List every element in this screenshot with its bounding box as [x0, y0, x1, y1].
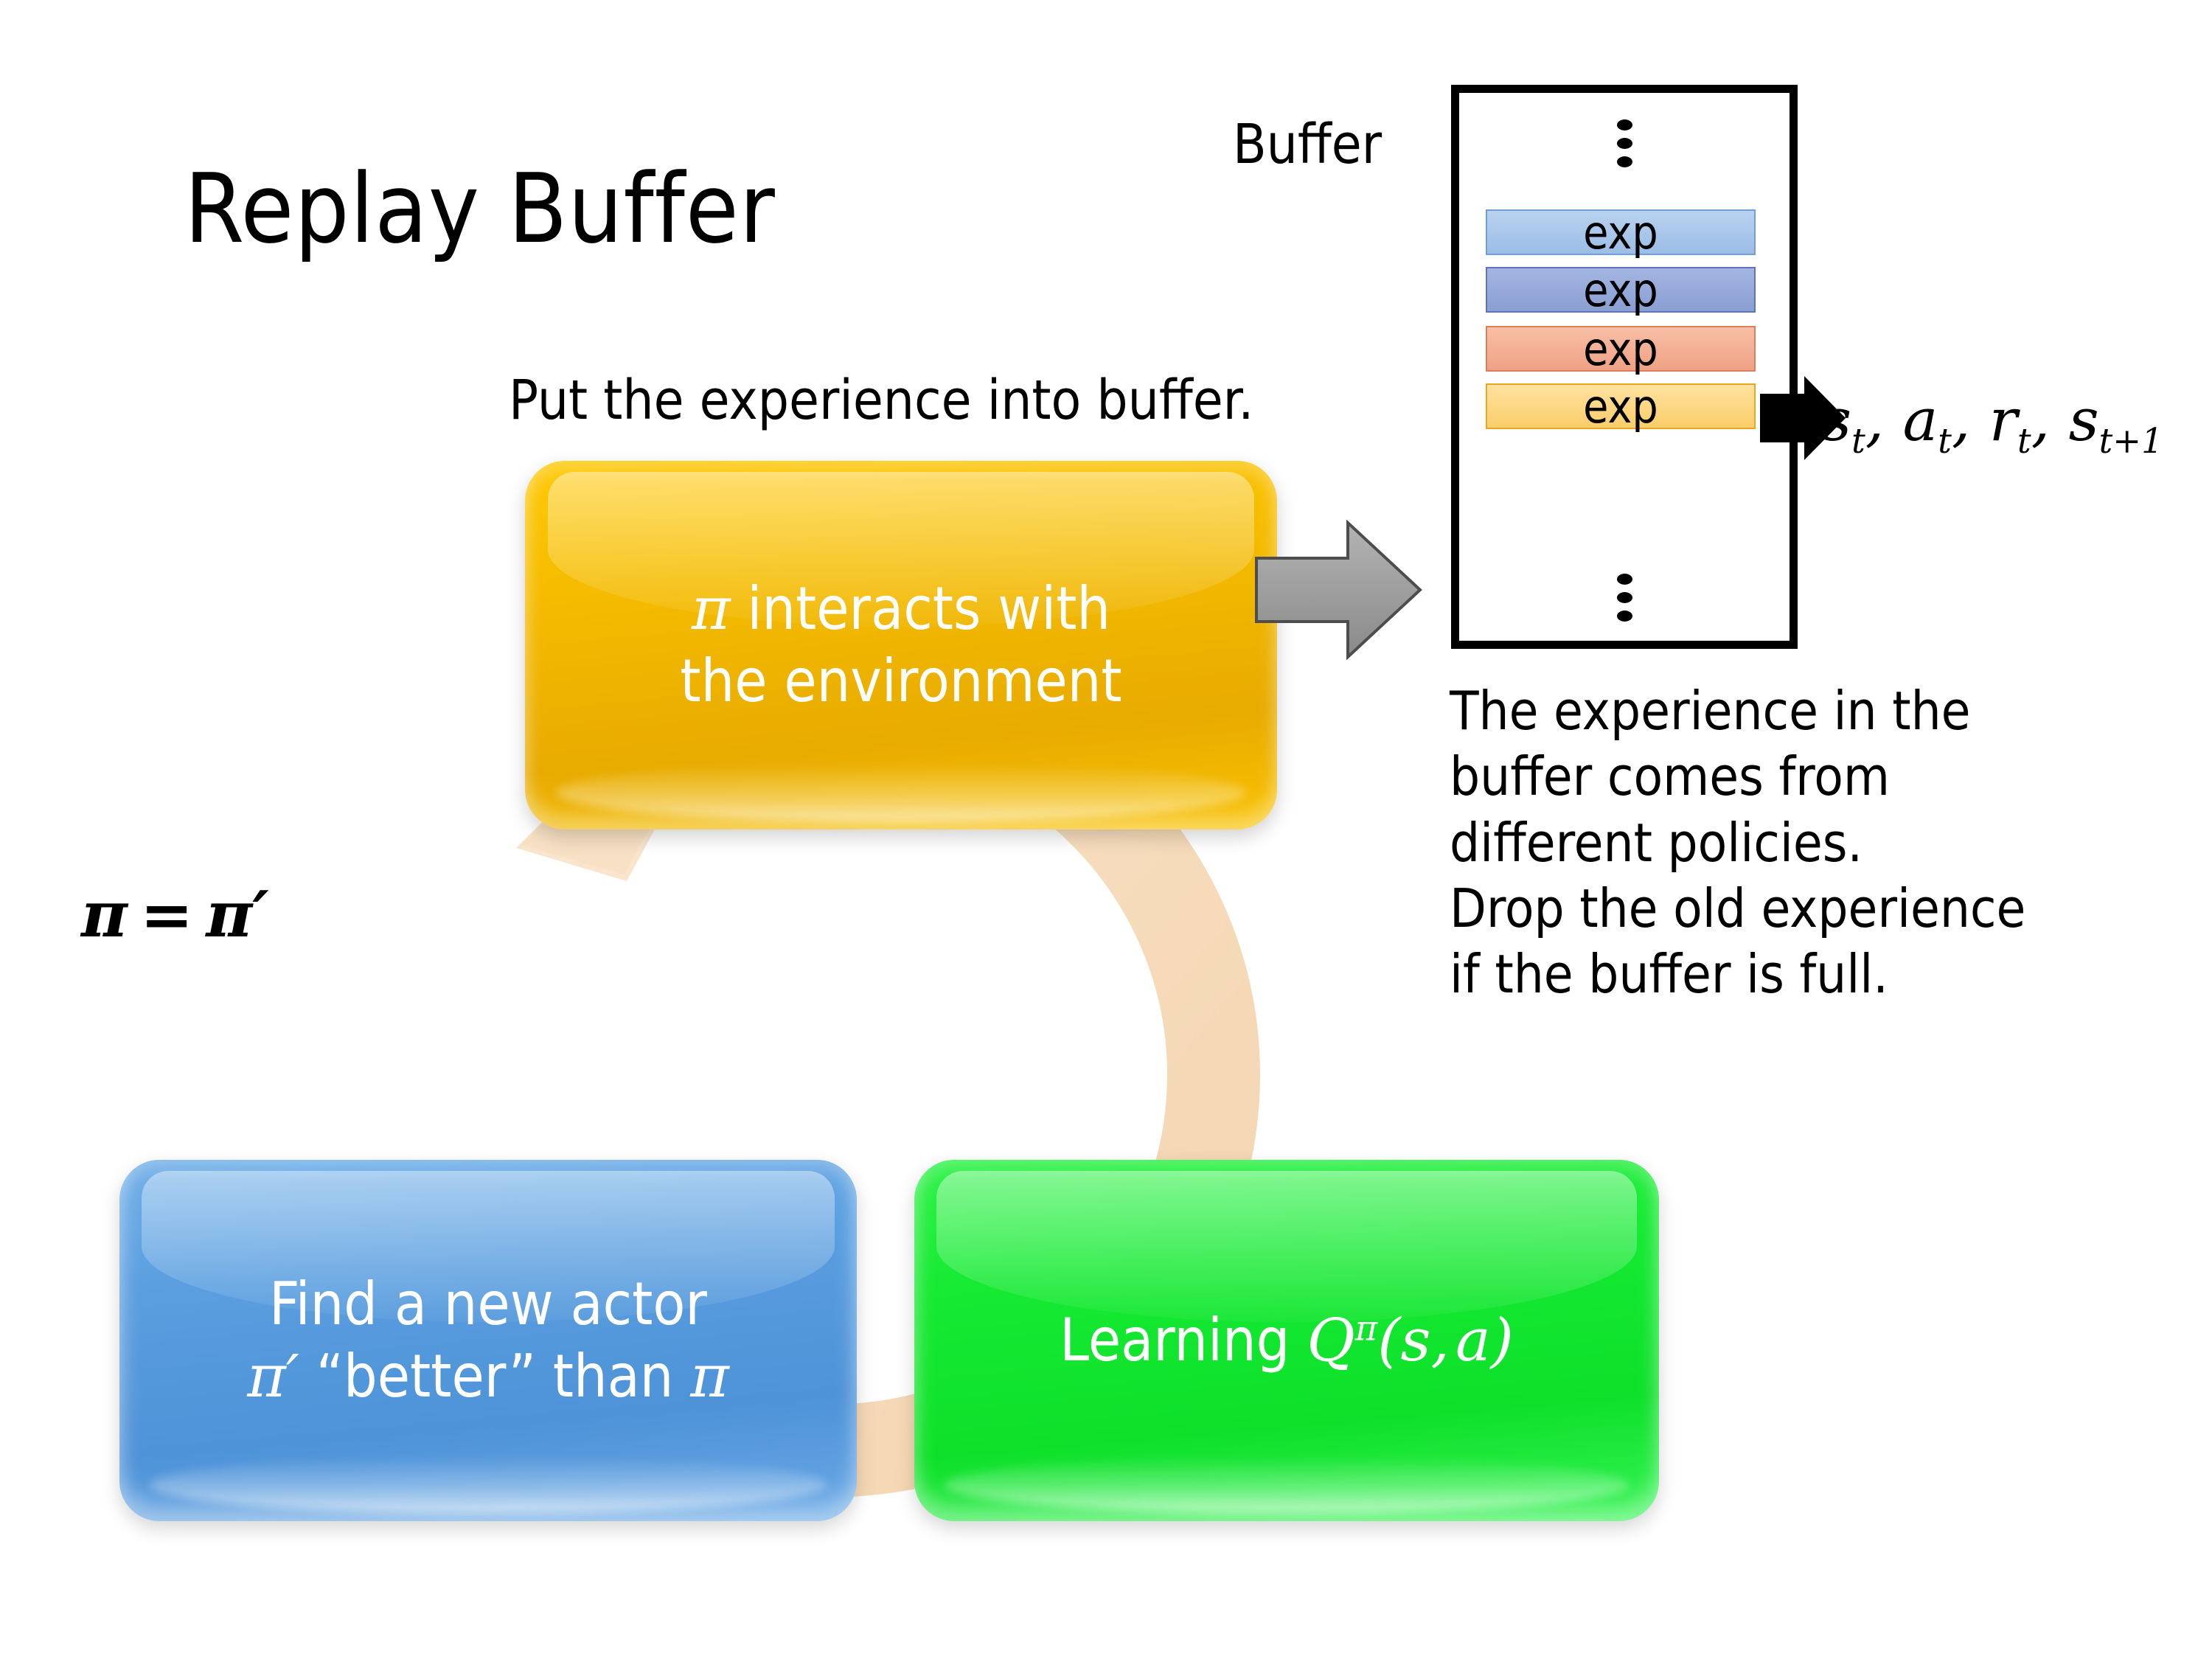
replay-buffer-container: exp exp exp exp [1451, 85, 1798, 649]
buffer-entry[interactable]: exp [1486, 209, 1756, 255]
put-arrow-icon [1253, 520, 1423, 660]
page-title: Replay Buffer [184, 161, 776, 257]
gloss-highlight [936, 1171, 1636, 1323]
buffer-entry[interactable]: exp [1486, 267, 1756, 313]
cycle-node-interact[interactable]: π interacts with the environment [525, 461, 1277, 829]
gloss-reflection [149, 1456, 827, 1514]
buffer-entry[interactable]: exp [1486, 383, 1756, 429]
put-experience-label: Put the experience into buffer. [509, 372, 1253, 430]
note-line: buffer comes from [1450, 744, 2212, 810]
slide-canvas: Replay Buffer π interacts with the envir… [0, 0, 2212, 1659]
gloss-reflection [944, 1456, 1629, 1514]
gloss-reflection [555, 763, 1247, 822]
buffer-note-block: The experience in the buffer comes from … [1450, 678, 2212, 1007]
note-line: Drop the old experience [1450, 876, 2212, 942]
cycle-node-find-actor-label: Find a new actor π′ “better” than π [218, 1268, 759, 1412]
buffer-entry[interactable]: exp [1486, 326, 1756, 372]
sampled-tuple-label: st, at, rt, st+1 [1821, 389, 2163, 459]
buffer-ellipsis-bottom [1459, 566, 1790, 629]
cycle-node-learning-label: Learning Qπ(s, a) [1030, 1304, 1543, 1377]
note-line: The experience in the [1450, 678, 2212, 744]
buffer-ellipsis-top [1459, 112, 1790, 175]
policy-update-label: π = π′ [81, 882, 269, 948]
cycle-node-find-actor[interactable]: Find a new actor π′ “better” than π [119, 1160, 857, 1521]
note-line: different policies. [1450, 810, 2212, 876]
note-line: if the buffer is full. [1450, 942, 2212, 1007]
buffer-label: Buffer [1233, 116, 1382, 174]
cycle-node-interact-label: π interacts with the environment [650, 573, 1151, 717]
cycle-node-learning[interactable]: Learning Qπ(s, a) [914, 1160, 1659, 1521]
